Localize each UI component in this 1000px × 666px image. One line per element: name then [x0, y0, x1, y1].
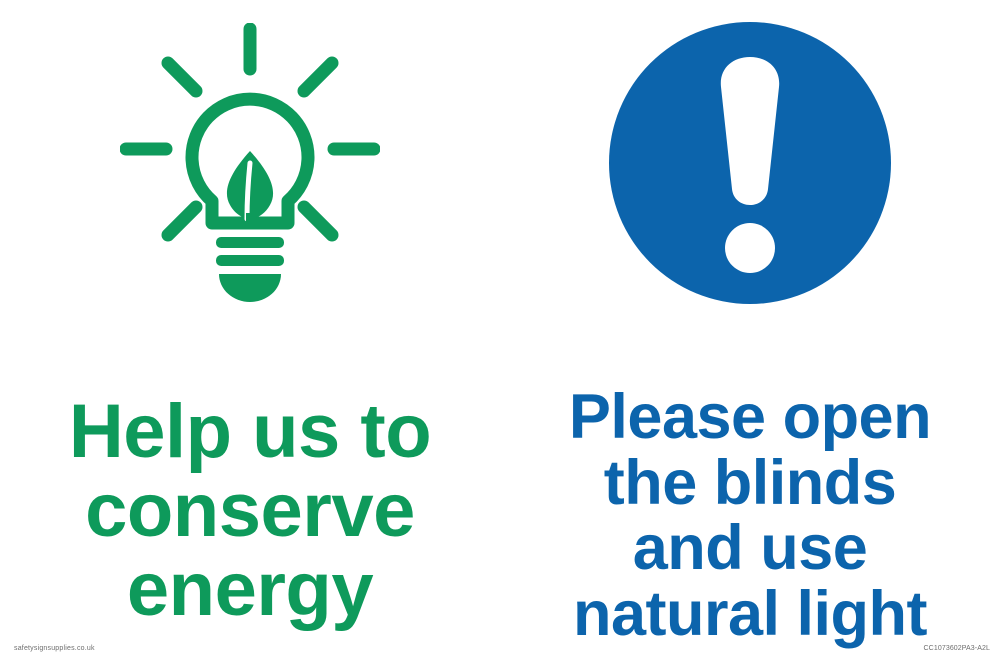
product-code-text: CC1073602PA3-A2L: [924, 645, 990, 652]
message-open-blinds: Please open the blinds and use natural l…: [500, 385, 1000, 647]
site-credit-text: safetysignsupplies.co.uk: [14, 645, 95, 652]
panel-conserve-energy: Help us to conserve energy: [0, 0, 500, 666]
mandatory-action-exclamation-icon: [500, 18, 1000, 308]
panel-open-blinds: Please open the blinds and use natural l…: [500, 0, 1000, 666]
energy-saving-lightbulb-icon: [0, 18, 500, 308]
safety-sign-canvas: Help us to conserve energy Please open t…: [0, 0, 1000, 666]
message-conserve-energy: Help us to conserve energy: [0, 392, 500, 629]
